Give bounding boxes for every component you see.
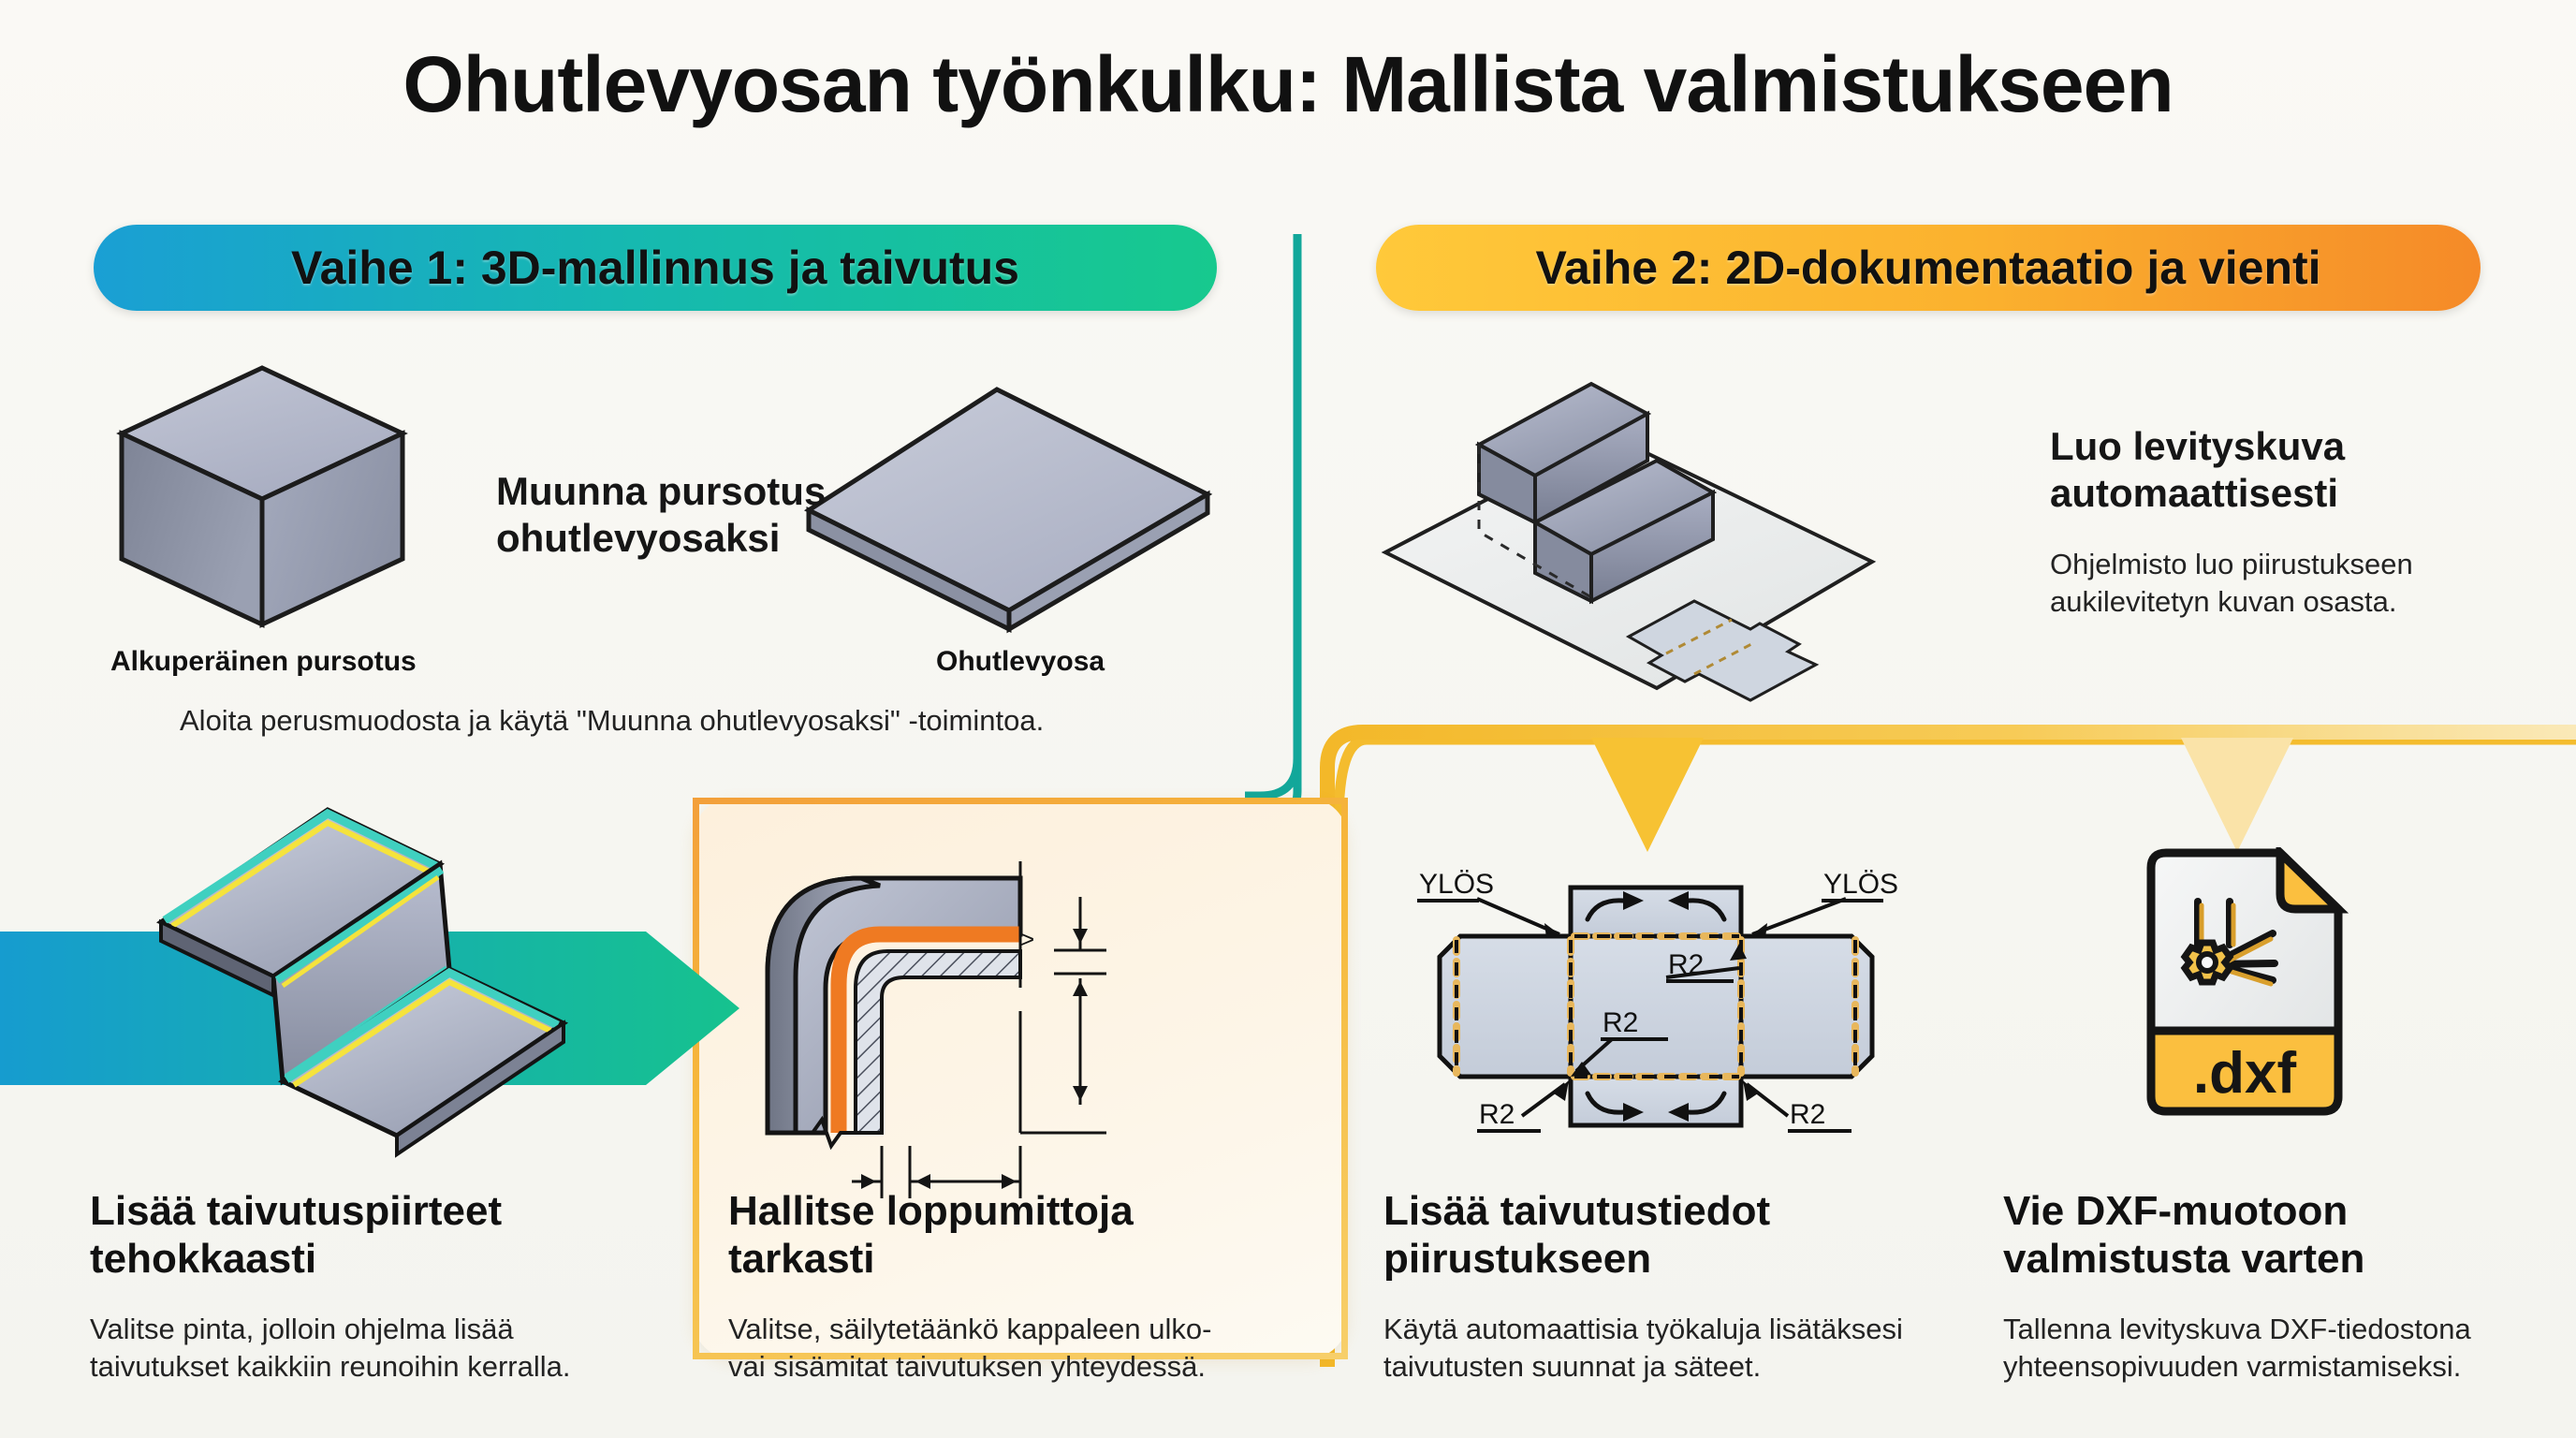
card-export-dxf-title: Vie DXF-muotoon valmistusta varten xyxy=(2003,1187,2565,1283)
phase2-top-title-line1: Luo levityskuva xyxy=(2050,423,2537,470)
card3-body-line2: taivutusten suunnat ja säteet. xyxy=(1383,1348,2020,1386)
phase1-caption: Aloita perusmuodosta ja käytä "Muunna oh… xyxy=(180,704,1044,738)
card2-body-line1: Valitse, säilytetäänkö kappaleen ulko- xyxy=(728,1311,1337,1348)
convert-action-line1: Muunna pursotus xyxy=(496,468,889,515)
flat-pattern-bend-notes-illustration: YLÖS YLÖS R2 R2 R2 R2 xyxy=(1367,843,2003,1152)
phase2-top-title: Luo levityskuva automaattisesti xyxy=(2050,423,2537,516)
phase2-top-body-line1: Ohjelmisto luo piirustukseen xyxy=(2050,546,2574,583)
infographic-root: Ohutlevyosan työnkulku: Mallista valmist… xyxy=(0,0,2576,1438)
phase-2-label: Vaihe 2: 2D-dokumentaatio ja vienti xyxy=(1535,241,2320,295)
card2-title-line1: Hallitse loppumittoja xyxy=(728,1187,1309,1235)
phase-2-banner: Vaihe 2: 2D-dokumentaatio ja vienti xyxy=(1376,225,2481,311)
bend-features-illustration xyxy=(140,800,627,1175)
phase2-top-body-line2: aukilevitetyn kuvan osasta. xyxy=(2050,583,2574,621)
label-original-extrusion: Alkuperäinen pursotus xyxy=(110,646,417,678)
flat-label-ylos-right: YLÖS xyxy=(1823,869,1898,900)
bend-dimension-illustration: > xyxy=(739,824,1301,1217)
card2-title-line2: tarkasti xyxy=(728,1235,1309,1283)
card3-title-line2: piirustukseen xyxy=(1383,1235,1964,1283)
convert-action-text: Muunna pursotus ohutlevyosaksi xyxy=(496,468,889,561)
flat-label-r2-4: R2 xyxy=(1790,1099,1825,1130)
card-final-dimensions-title: Hallitse loppumittoja tarkasti xyxy=(728,1187,1309,1283)
extrusion-block-illustration xyxy=(112,360,421,632)
card-bend-features-body: Valitse pinta, jolloin ohjelma lisää tai… xyxy=(90,1311,698,1385)
flat-label-r2-2: R2 xyxy=(1603,1007,1638,1038)
label-sheet-metal-part: Ohutlevyosa xyxy=(936,646,1105,678)
card-export-dxf-body: Tallenna levityskuva DXF-tiedostona yhte… xyxy=(2003,1311,2576,1385)
phase-1-banner: Vaihe 1: 3D-mallinnus ja taivutus xyxy=(94,225,1217,311)
phase2-top-title-line2: automaattisesti xyxy=(2050,470,2537,517)
dxf-file-icon: .dxf xyxy=(2140,847,2355,1119)
card2-body-line2: vai sisämitat taivutuksen yhteydessä. xyxy=(728,1348,1337,1386)
convert-action-line2: ohutlevyosaksi xyxy=(496,515,889,562)
svg-text:>: > xyxy=(1020,925,1034,953)
card4-body-line2: yhteensopivuuden varmistamiseksi. xyxy=(2003,1348,2576,1386)
card4-body-line1: Tallenna levityskuva DXF-tiedostona xyxy=(2003,1311,2576,1348)
card-bend-notes-body: Käytä automaattisia työkaluja lisätäkses… xyxy=(1383,1311,2020,1385)
card1-body-line2: taivutukset kaikkiin reunoihin kerralla. xyxy=(90,1348,698,1386)
flat-label-r2-3: R2 xyxy=(1479,1099,1515,1130)
card3-title-line1: Lisää taivutustiedot xyxy=(1383,1187,1964,1235)
teal-connector xyxy=(1245,234,1376,852)
phase-1-label: Vaihe 1: 3D-mallinnus ja taivutus xyxy=(291,241,1019,295)
card-bend-features-title: Lisää taivutuspiirteet tehokkaasti xyxy=(90,1187,651,1283)
flat-label-r2-1: R2 xyxy=(1668,949,1704,980)
card-bend-notes-title: Lisää taivutustiedot piirustukseen xyxy=(1383,1187,1964,1283)
card1-body-line1: Valitse pinta, jolloin ohjelma lisää xyxy=(90,1311,698,1348)
card1-title-line1: Lisää taivutuspiirteet xyxy=(90,1187,651,1235)
flat-pattern-on-drawing-illustration xyxy=(1376,356,1956,721)
page-title: Ohutlevyosan työnkulku: Mallista valmist… xyxy=(0,39,2576,130)
card3-body-line1: Käytä automaattisia työkaluja lisätäkses… xyxy=(1383,1311,2020,1348)
card-final-dimensions-body: Valitse, säilytetäänkö kappaleen ulko- v… xyxy=(728,1311,1337,1385)
card4-title-line1: Vie DXF-muotoon xyxy=(2003,1187,2565,1235)
phase2-top-body: Ohjelmisto luo piirustukseen aukilevitet… xyxy=(2050,546,2574,620)
card1-title-line2: tehokkaasti xyxy=(90,1235,651,1283)
card4-title-line2: valmistusta varten xyxy=(2003,1235,2565,1283)
flat-label-ylos-left: YLÖS xyxy=(1419,869,1494,900)
dxf-extension-label: .dxf xyxy=(2193,1041,2297,1106)
